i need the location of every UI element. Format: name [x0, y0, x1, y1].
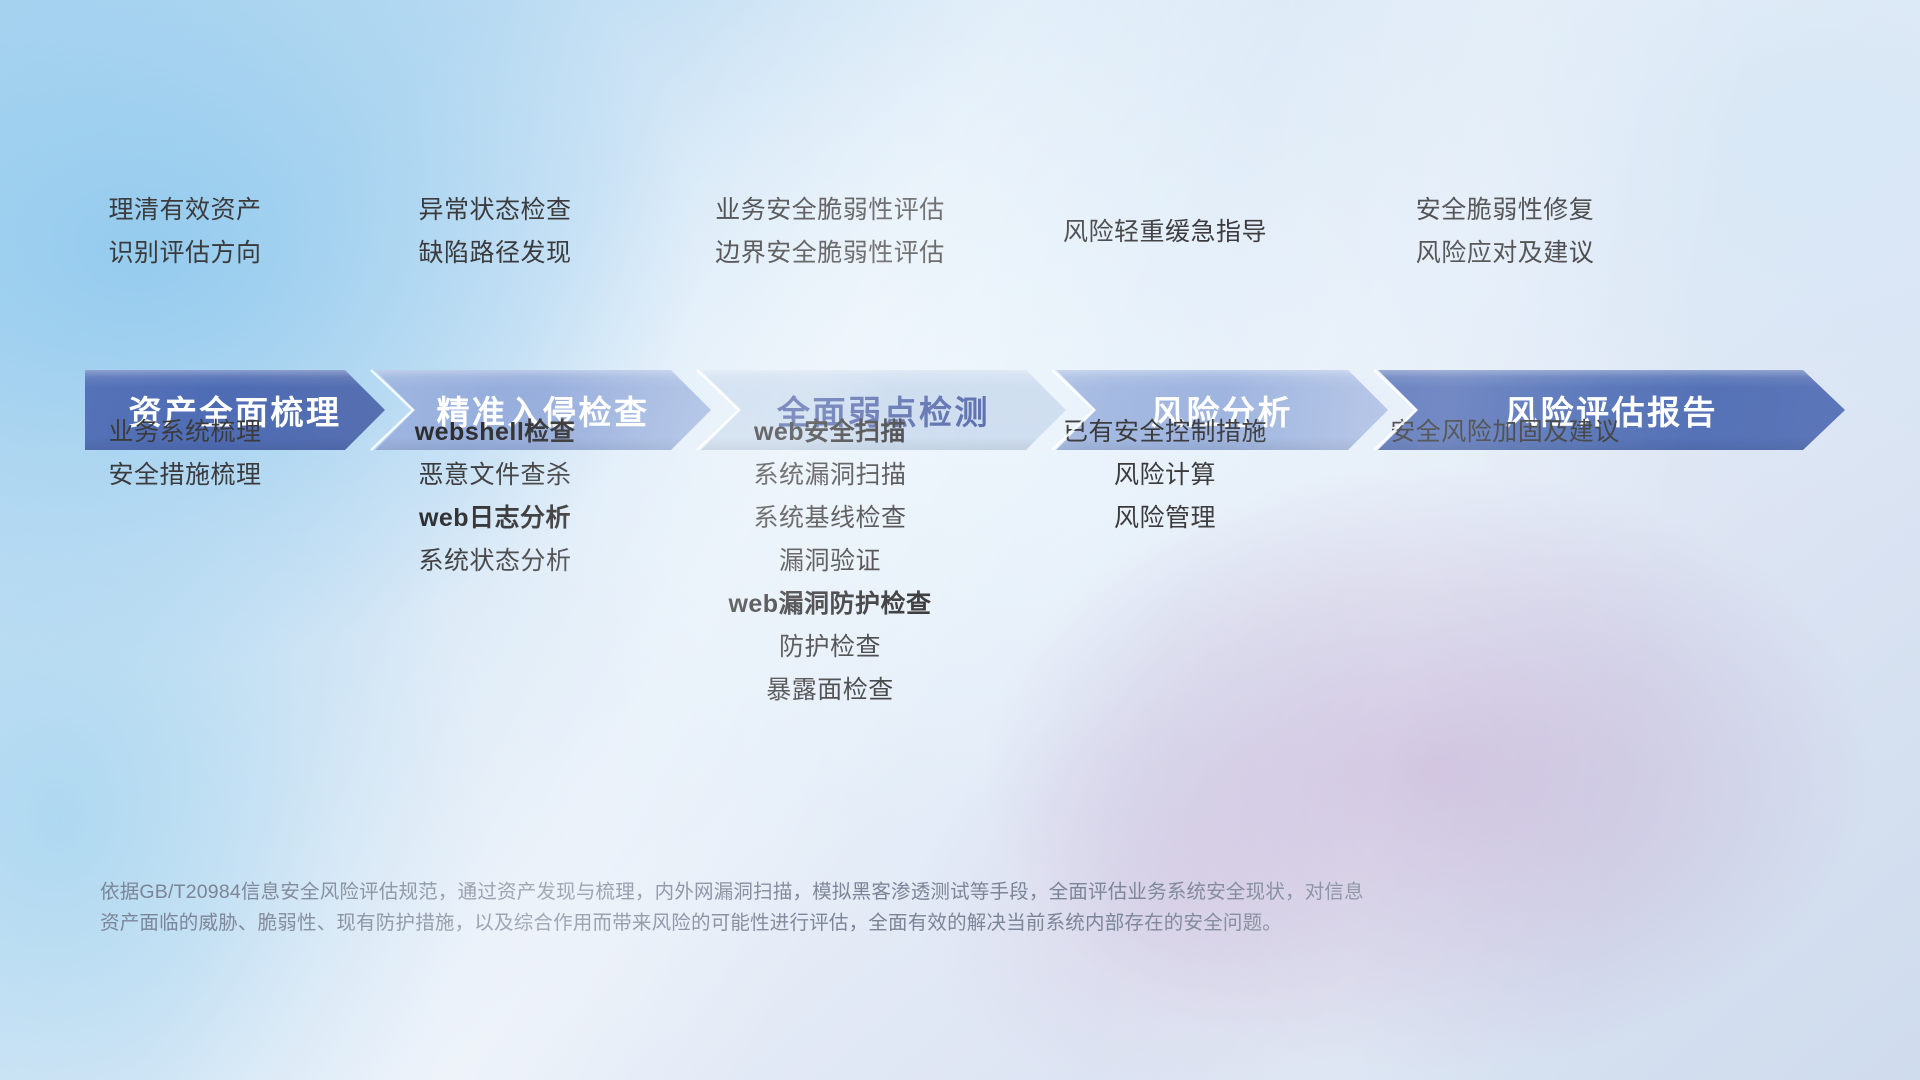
top-label-item: 异常状态检查: [345, 190, 645, 230]
top-label-item: 缺陷路径发现: [345, 233, 645, 273]
slide-canvas: 理清有效资产 识别评估方向 异常状态检查 缺陷路径发现 业务安全脆弱性评估 边界…: [0, 0, 1920, 1080]
top-labels-intrusion-check: 异常状态检查 缺陷路径发现: [345, 190, 645, 276]
bottom-labels-risk-analysis: 已有安全控制措施 风险计算 风险管理: [1015, 412, 1315, 541]
bottom-labels-asset-inventory: 业务系统梳理 安全措施梳理: [35, 412, 335, 498]
bottom-label-item: web安全扫描: [660, 412, 1000, 452]
top-labels-risk-analysis: 风险轻重缓急指导: [1015, 190, 1315, 276]
bottom-label-item: 业务系统梳理: [35, 412, 335, 452]
top-label-item: 风险轻重缓急指导: [1015, 212, 1315, 252]
bottom-labels-row: 业务系统梳理 安全措施梳理 webshell检查 恶意文件查杀 web日志分析 …: [0, 412, 1920, 713]
footer-line: 依据GB/T20984信息安全风险评估规范，通过资产发现与梳理，内外网漏洞扫描，…: [100, 877, 1660, 908]
bottom-label-item: 暴露面检查: [660, 670, 1000, 710]
bottom-label-item: 漏洞验证: [660, 541, 1000, 581]
bottom-labels-intrusion-check: webshell检查 恶意文件查杀 web日志分析 系统状态分析: [345, 412, 645, 584]
top-labels-row: 理清有效资产 识别评估方向 异常状态检查 缺陷路径发现 业务安全脆弱性评估 边界…: [0, 190, 1920, 276]
bottom-label-item: 系统漏洞扫描: [660, 455, 1000, 495]
bottom-label-item: 系统状态分析: [345, 541, 645, 581]
bottom-label-item: 风险管理: [1015, 498, 1315, 538]
bottom-label-item: 系统基线检查: [660, 498, 1000, 538]
top-label-item: 安全脆弱性修复: [1340, 190, 1670, 230]
bottom-label-item: 防护检查: [660, 627, 1000, 667]
bottom-label-item: 已有安全控制措施: [1015, 412, 1315, 452]
top-label-item: 边界安全脆弱性评估: [660, 233, 1000, 273]
top-labels-asset-inventory: 理清有效资产 识别评估方向: [35, 190, 335, 276]
bottom-label-item: web日志分析: [345, 498, 645, 538]
bottom-labels-weakness-detection: web安全扫描 系统漏洞扫描 系统基线检查 漏洞验证 web漏洞防护检查 防护检…: [660, 412, 1000, 713]
bottom-label-item: 恶意文件查杀: [345, 455, 645, 495]
top-label-item: 业务安全脆弱性评估: [660, 190, 1000, 230]
bottom-labels-risk-report: 安全风险加固及建议: [1340, 412, 1670, 455]
bottom-label-item: web漏洞防护检查: [660, 584, 1000, 624]
top-label-item: 风险应对及建议: [1340, 233, 1670, 273]
bottom-label-item: 安全风险加固及建议: [1340, 412, 1670, 452]
footer-description: 依据GB/T20984信息安全风险评估规范，通过资产发现与梳理，内外网漏洞扫描，…: [100, 877, 1660, 939]
top-label-item: 识别评估方向: [35, 233, 335, 273]
bottom-label-item: webshell检查: [345, 412, 645, 452]
top-labels-weakness-detection: 业务安全脆弱性评估 边界安全脆弱性评估: [660, 190, 1000, 276]
footer-line: 资产面临的威胁、脆弱性、现有防护措施，以及综合作用而带来风险的可能性进行评估，全…: [100, 908, 1660, 939]
top-label-item: 理清有效资产: [35, 190, 335, 230]
bottom-label-item: 风险计算: [1015, 455, 1315, 495]
bottom-label-item: 安全措施梳理: [35, 455, 335, 495]
top-labels-risk-report: 安全脆弱性修复 风险应对及建议: [1340, 190, 1670, 276]
